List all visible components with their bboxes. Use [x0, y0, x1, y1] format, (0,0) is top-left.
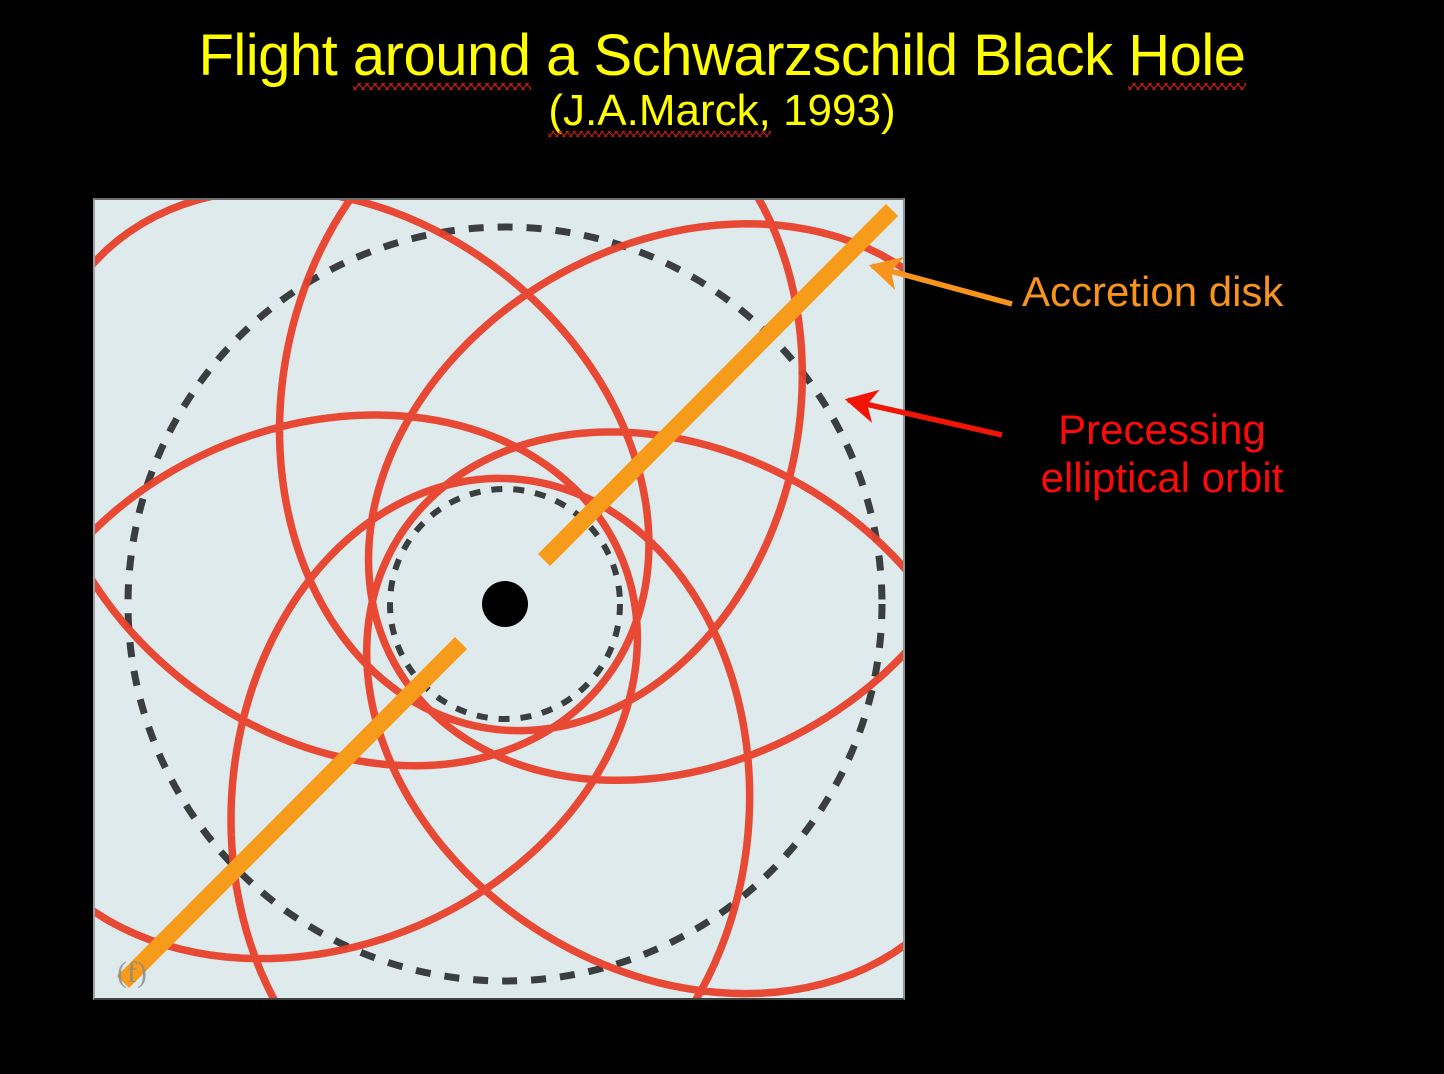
- slide-title-block: Flight around a Schwarzschild Black Hole…: [0, 24, 1444, 136]
- title-misspelled-around: around: [353, 24, 531, 88]
- subtitle-misspelled-author: (J.A.Marck,: [548, 86, 770, 136]
- title-misspelled-hole: Hole: [1128, 24, 1245, 88]
- figure-tag-label: (f): [117, 956, 147, 990]
- label-precessing-elliptical-orbit: Precessing elliptical orbit: [1012, 406, 1312, 502]
- figure-panel: (f): [93, 198, 905, 1000]
- label-accretion-disk: Accretion disk: [1022, 268, 1283, 316]
- orbit-diagram: [95, 200, 905, 1000]
- slide-canvas: Flight around a Schwarzschild Black Hole…: [0, 0, 1444, 1074]
- page-title: Flight around a Schwarzschild Black Hole: [198, 24, 1245, 88]
- title-segment-1: Flight: [198, 23, 352, 88]
- title-segment-2: a Schwarzschild Black: [531, 23, 1129, 88]
- subtitle-year: 1993): [771, 86, 896, 135]
- black-hole: [482, 581, 528, 627]
- page-subtitle: (J.A.Marck, 1993): [0, 86, 1444, 136]
